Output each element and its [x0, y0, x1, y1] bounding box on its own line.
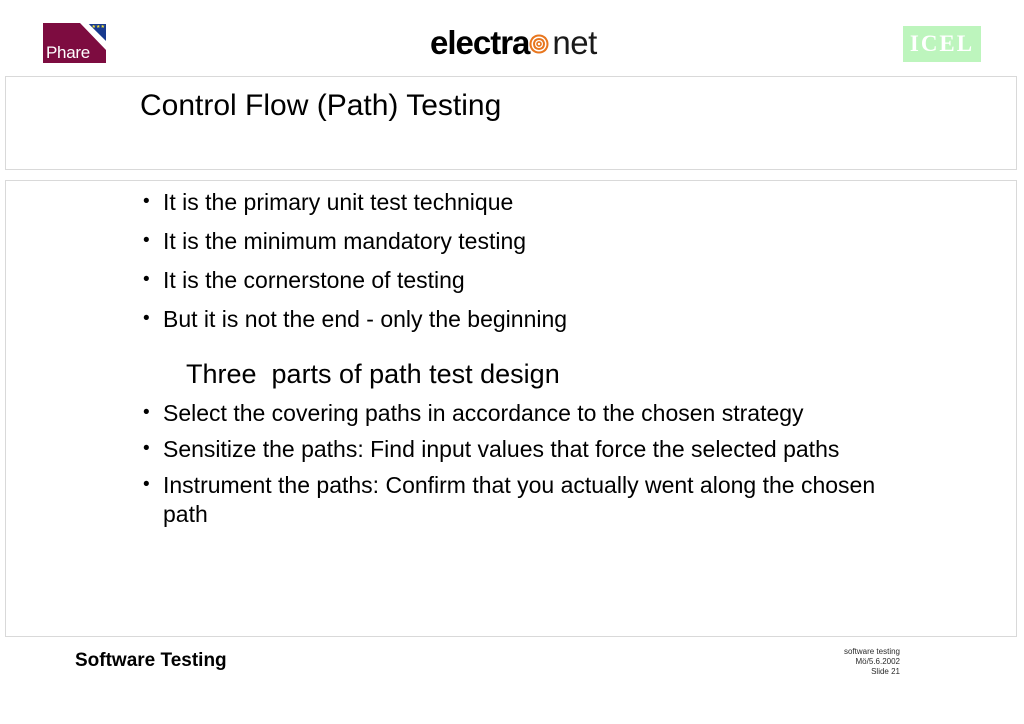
- list-item: • Select the covering paths in accordanc…: [136, 399, 996, 428]
- list-item-text: But it is not the end - only the beginni…: [163, 305, 996, 333]
- electranet-word-net: net: [552, 26, 596, 60]
- bullet-icon: •: [136, 305, 163, 333]
- slide-header: ★★★ Phare electra net ICEL: [0, 0, 1024, 76]
- phare-eu-stars: ★★★: [87, 25, 105, 39]
- icel-logo-label: ICEL: [910, 32, 974, 56]
- section-heading: Three parts of path test design: [186, 358, 996, 390]
- page-title: Control Flow (Path) Testing: [140, 88, 501, 124]
- bullet-list: • It is the primary unit test technique …: [136, 188, 996, 536]
- list-item-text: It is the minimum mandatory testing: [163, 227, 996, 255]
- list-item: • It is the cornerstone of testing: [136, 266, 996, 294]
- footer-meta-line-1: software testing: [790, 647, 900, 657]
- bullet-icon: •: [136, 227, 163, 255]
- phare-logo-label: Phare: [46, 44, 90, 62]
- list-item-text: Instrument the paths: Confirm that you a…: [163, 471, 903, 529]
- list-item-text: It is the primary unit test technique: [163, 188, 996, 216]
- footer-slide-number: Slide 21: [790, 667, 900, 677]
- icel-logo: ICEL: [903, 26, 981, 62]
- electranet-logo: electra net: [430, 24, 597, 62]
- bullet-icon: •: [136, 435, 163, 463]
- electranet-word-electra: electra: [430, 26, 529, 60]
- footer-left-label: Software Testing: [75, 649, 227, 672]
- body-placeholder-box: • It is the primary unit test technique …: [5, 180, 1017, 637]
- list-item: • But it is not the end - only the begin…: [136, 305, 996, 333]
- list-item: • It is the primary unit test technique: [136, 188, 996, 216]
- footer-meta-line-2: Mö/5.6.2002: [790, 657, 900, 667]
- wireless-radiate-icon: [526, 31, 552, 57]
- list-item: • It is the minimum mandatory testing: [136, 227, 996, 255]
- list-item-text: Sensitize the paths: Find input values t…: [163, 435, 903, 464]
- phare-logo: ★★★ Phare: [43, 23, 106, 63]
- list-item: • Instrument the paths: Confirm that you…: [136, 471, 996, 529]
- bullet-icon: •: [136, 266, 163, 294]
- title-placeholder-box: Control Flow (Path) Testing: [5, 76, 1017, 170]
- bullet-icon: •: [136, 471, 163, 499]
- footer-meta: software testing Mö/5.6.2002 Slide 21: [790, 647, 900, 677]
- list-item: • Sensitize the paths: Find input values…: [136, 435, 996, 464]
- bullet-icon: •: [136, 188, 163, 216]
- list-item-text: Select the covering paths in accordance …: [163, 399, 903, 428]
- list-item-text: It is the cornerstone of testing: [163, 266, 996, 294]
- bullet-icon: •: [136, 399, 163, 427]
